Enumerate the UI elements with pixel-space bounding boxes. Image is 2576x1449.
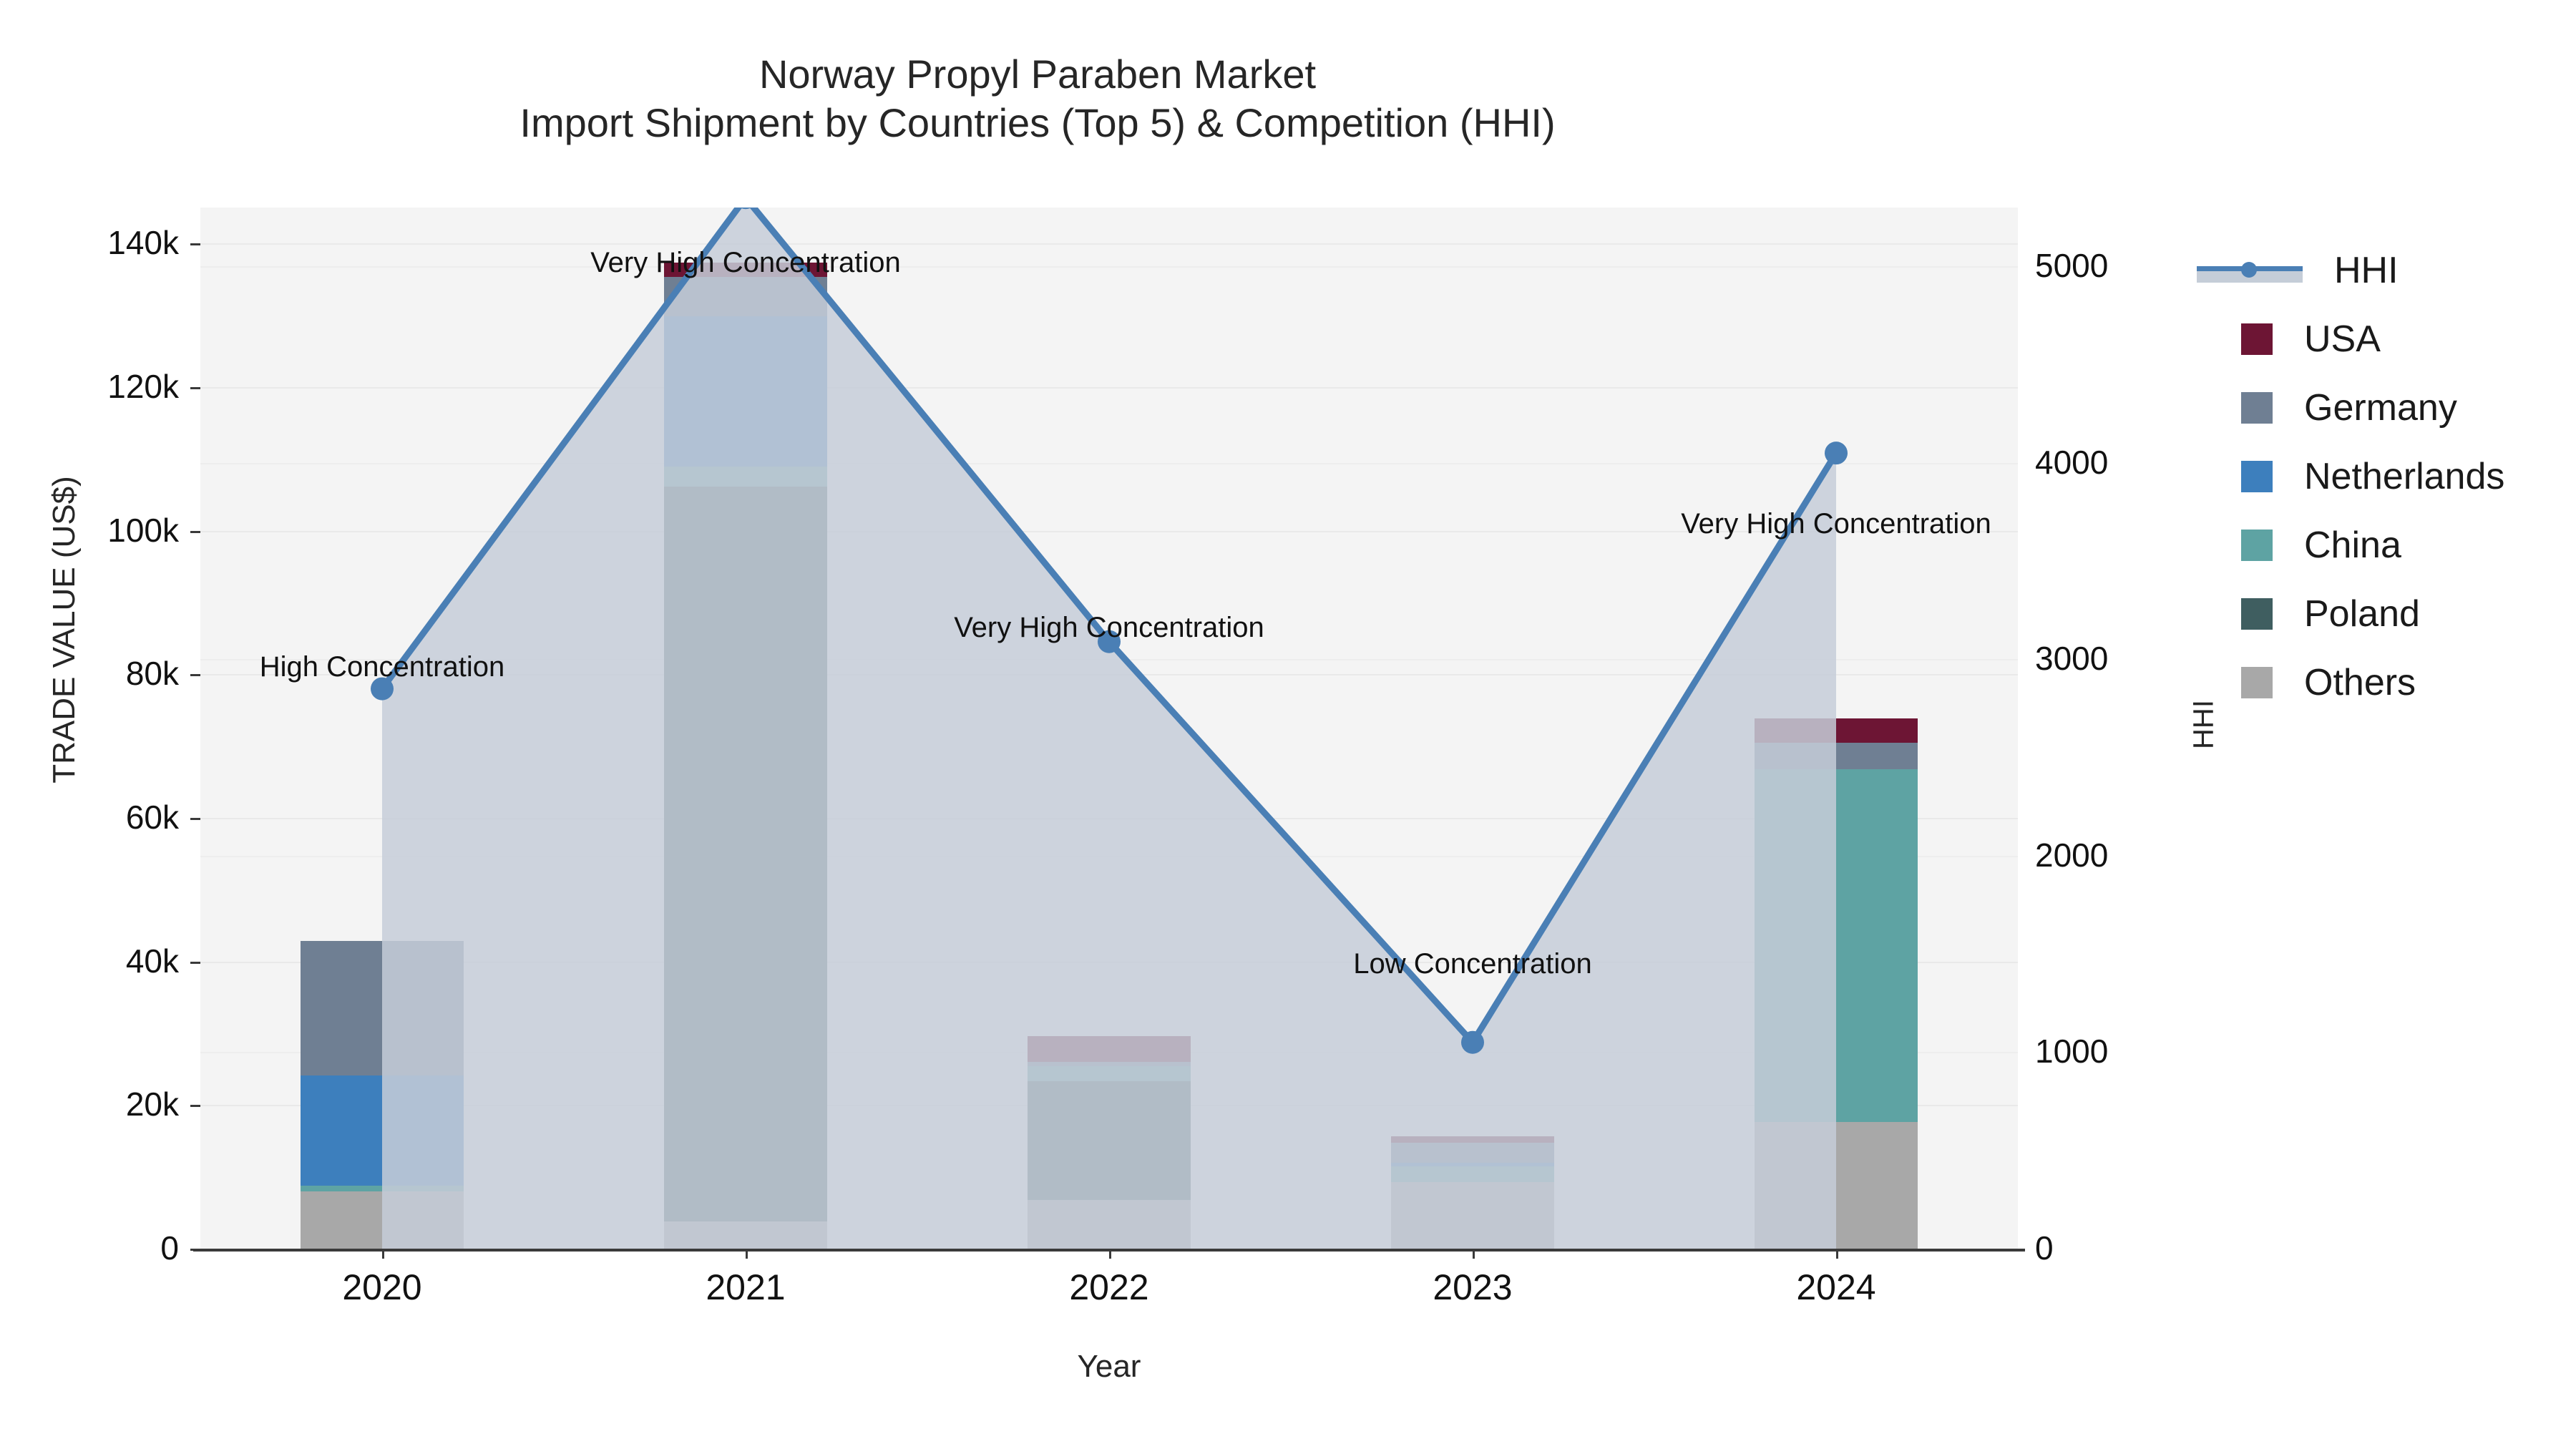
- annotation-2024: Very High Concentration: [1478, 508, 2194, 540]
- y-axis-right-tick: 5000: [2035, 246, 2108, 285]
- legend-label: Others: [2304, 664, 2416, 701]
- x-axis-label: Year: [200, 1349, 2018, 1385]
- bar-group[interactable]: [1028, 208, 1191, 1249]
- y-axis-left-label: TRADE VALUE (US$): [47, 308, 82, 952]
- x-axis-tick-2022: 2022: [966, 1267, 1252, 1308]
- x-axis-tick-2021: 2021: [602, 1267, 889, 1308]
- bar-segment-usa[interactable]: [1755, 718, 1918, 743]
- bar-segment-others[interactable]: [301, 1191, 464, 1249]
- legend-label: USA: [2304, 321, 2381, 358]
- legend-color-swatch: [2241, 323, 2273, 355]
- bar-group[interactable]: [664, 208, 828, 1249]
- bar-segment-china[interactable]: [1391, 1166, 1555, 1182]
- bar-segment-others[interactable]: [1028, 1200, 1191, 1249]
- bar-segment-netherlands[interactable]: [1391, 1163, 1555, 1166]
- x-axis-tick-mark: [1109, 1249, 1111, 1259]
- y-axis-left-tick: 20k: [0, 1085, 179, 1123]
- bar-segment-china[interactable]: [301, 1186, 464, 1191]
- legend-item-germany[interactable]: Germany: [2197, 374, 2569, 442]
- y-axis-left-tick-mark: [190, 387, 200, 389]
- bar-group[interactable]: [301, 208, 464, 1249]
- legend-color-swatch: [2241, 667, 2273, 698]
- legend-line-swatch: [2197, 255, 2303, 286]
- y-axis-right-tick: 2000: [2035, 836, 2108, 874]
- y-axis-left-tick: 60k: [0, 798, 179, 836]
- y-axis-left-tick-mark: [190, 243, 200, 245]
- bar-segment-usa[interactable]: [1028, 1036, 1191, 1062]
- legend-item-usa[interactable]: USA: [2197, 305, 2569, 374]
- y-axis-left-tick-mark: [190, 962, 200, 964]
- x-axis-tick-2020: 2020: [239, 1267, 525, 1308]
- x-axis-tick-mark: [746, 1249, 748, 1259]
- legend-label: Poland: [2304, 595, 2420, 633]
- x-axis-tick-2023: 2023: [1330, 1267, 1616, 1308]
- legend: HHIUSAGermanyNetherlandsChinaPolandOther…: [2197, 236, 2569, 717]
- annotation-2022: Very High Concentration: [751, 612, 1467, 644]
- y-axis-left-tick: 40k: [0, 942, 179, 980]
- legend-label: Netherlands: [2304, 458, 2504, 495]
- bar-segment-others[interactable]: [1755, 1122, 1918, 1249]
- bar-segment-netherlands[interactable]: [664, 316, 828, 467]
- chart-title-block: Norway Propyl Paraben Market Import Ship…: [0, 50, 2075, 148]
- annotation-2021: Very High Concentration: [388, 247, 1103, 279]
- y-axis-left-tick-mark: [190, 1105, 200, 1107]
- y-axis-left-tick: 100k: [0, 511, 179, 550]
- bar-segment-china[interactable]: [1028, 1066, 1191, 1081]
- legend-item-hhi[interactable]: HHI: [2197, 236, 2569, 305]
- annotation-2020: High Concentration: [24, 651, 740, 683]
- bar-segment-usa[interactable]: [1391, 1136, 1555, 1143]
- y-axis-left-tick: 140k: [0, 223, 179, 262]
- y-axis-left-tick-mark: [190, 818, 200, 820]
- y-axis-right-tick: 1000: [2035, 1032, 2108, 1070]
- bar-group[interactable]: [1755, 208, 1918, 1249]
- legend-color-swatch: [2241, 392, 2273, 424]
- y-axis-left-tick-mark: [190, 531, 200, 533]
- legend-marker-dot: [2241, 262, 2257, 278]
- legend-color-swatch: [2241, 598, 2273, 630]
- bar-segment-germany[interactable]: [301, 941, 464, 1076]
- legend-label: HHI: [2334, 252, 2399, 289]
- y-axis-right-tick: 3000: [2035, 639, 2108, 678]
- chart-title: Norway Propyl Paraben Market: [0, 50, 2075, 99]
- legend-label: China: [2304, 527, 2401, 564]
- x-axis-tick-mark: [382, 1249, 384, 1259]
- y-axis-left-tick-mark: [190, 1249, 200, 1251]
- plot-inner: [200, 208, 2018, 1249]
- bar-segment-china[interactable]: [664, 467, 828, 487]
- bar-segment-poland[interactable]: [1028, 1081, 1191, 1200]
- y-axis-right-tick: 0: [2035, 1229, 2054, 1267]
- legend-color-swatch: [2241, 461, 2273, 492]
- bar-group[interactable]: [1391, 208, 1555, 1249]
- annotation-2023: Low Concentration: [1115, 948, 1830, 980]
- legend-item-china[interactable]: China: [2197, 511, 2569, 580]
- x-axis-tick-mark: [1836, 1249, 1838, 1259]
- bar-segment-china[interactable]: [1755, 769, 1918, 1123]
- plot-area: [200, 208, 2018, 1249]
- y-axis-left-tick: 120k: [0, 367, 179, 406]
- bar-segment-germany[interactable]: [1391, 1143, 1555, 1163]
- bar-segment-netherlands[interactable]: [301, 1075, 464, 1186]
- bar-segment-others[interactable]: [664, 1221, 828, 1249]
- x-axis-tick-mark: [1473, 1249, 1475, 1259]
- legend-color-swatch: [2241, 530, 2273, 561]
- legend-item-poland[interactable]: Poland: [2197, 580, 2569, 648]
- legend-item-others[interactable]: Others: [2197, 648, 2569, 717]
- legend-label: Germany: [2304, 389, 2457, 426]
- x-axis-tick-2024: 2024: [1693, 1267, 1979, 1308]
- y-axis-right-tick: 4000: [2035, 443, 2108, 482]
- y-axis-left-tick: 0: [0, 1229, 179, 1267]
- bar-segment-germany[interactable]: [664, 277, 828, 316]
- bar-segment-others[interactable]: [1391, 1182, 1555, 1249]
- bar-segment-germany[interactable]: [1755, 743, 1918, 769]
- bar-segment-poland[interactable]: [664, 487, 828, 1221]
- legend-item-netherlands[interactable]: Netherlands: [2197, 442, 2569, 511]
- chart-figure: Norway Propyl Paraben Market Import Ship…: [0, 0, 2576, 1449]
- chart-subtitle: Import Shipment by Countries (Top 5) & C…: [0, 99, 2075, 147]
- bar-segment-germany[interactable]: [1028, 1062, 1191, 1066]
